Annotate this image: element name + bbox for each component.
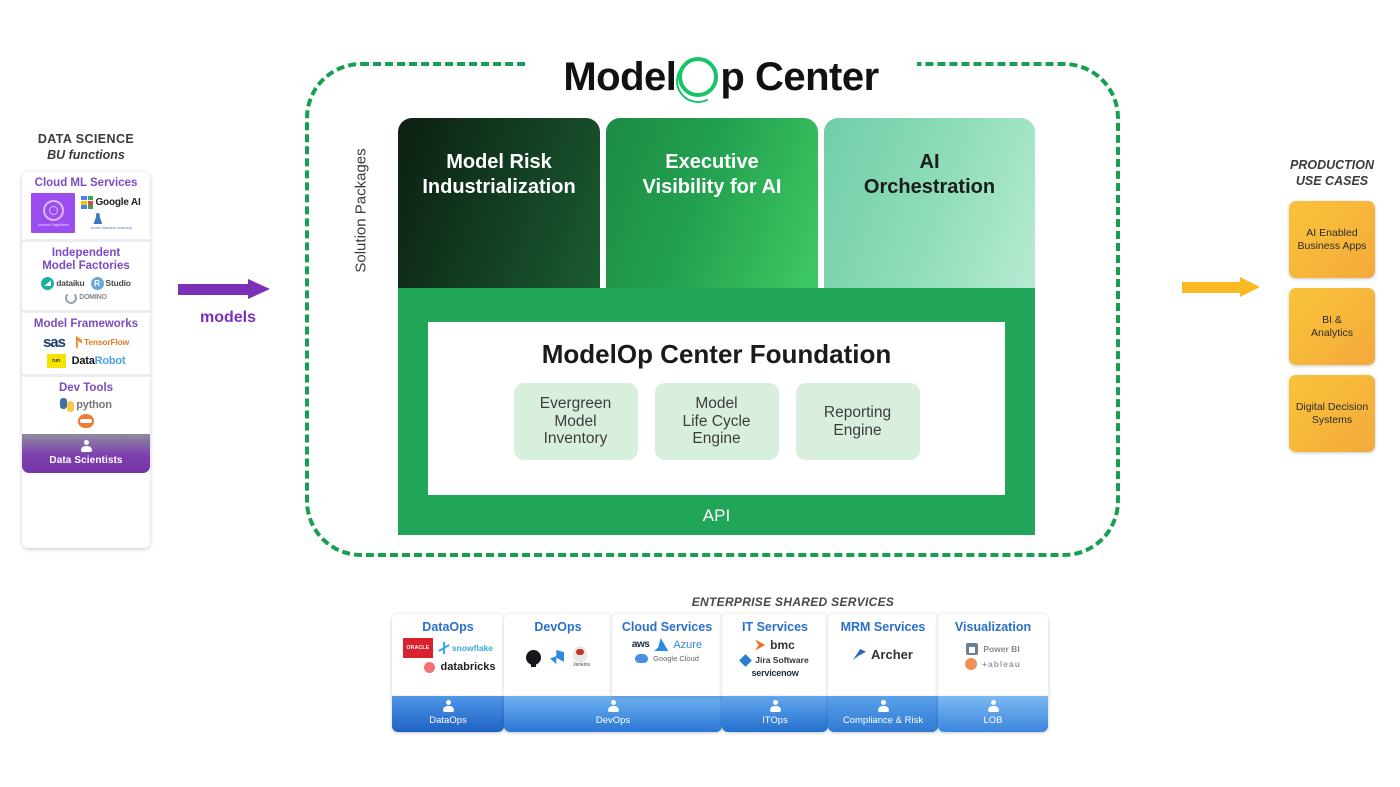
aws-icon: aws (632, 639, 649, 650)
ess-top-panel: IT Services bmc Jira Software servicenow (722, 614, 828, 696)
tableau-icon (965, 658, 977, 670)
dataiku-icon: dataiku (41, 277, 84, 290)
solution-package-executive-visibility-for-ai[interactable]: Executive Visibility for AI (606, 118, 818, 290)
capability-evergreen-model-inventory[interactable]: Evergreen Model Inventory (514, 383, 638, 460)
solution-packages-text: Solution Packages (353, 148, 370, 272)
power-bi-icon (966, 643, 978, 655)
domino-label: DOMINO (79, 294, 107, 301)
person-icon (80, 440, 93, 453)
api-layer-label: API (398, 506, 1035, 526)
azure-ml-label: Azure Machine Learning (90, 226, 131, 230)
use-case-line1: BI & (1311, 314, 1353, 327)
rstudio-icon: R Studio (91, 277, 131, 290)
domino-icon: DOMINO (65, 292, 107, 304)
ess-top-panel: DevOps Jenkins (504, 614, 612, 696)
card-title: Independent Model Factories (26, 247, 146, 273)
jenkins-icon (573, 646, 587, 662)
ess-persona-label: ITOps (762, 715, 788, 726)
package-line1: Model Risk (422, 150, 575, 175)
modelop-o-ring-icon (678, 57, 718, 97)
datarobot-label-a: Data (72, 355, 95, 367)
tableau-label: +ableau (982, 659, 1021, 669)
card-title-line2: Model Factories (26, 260, 146, 273)
oracle-icon: ORACLE (403, 638, 433, 658)
foundation-capabilities: Evergreen Model Inventory Model Life Cyc… (428, 383, 1005, 460)
production-use-cases-column: PRODUCTION USE CASES AI Enabled Business… (1268, 158, 1396, 462)
foundation-panel: ModelOp Center Foundation Evergreen Mode… (428, 322, 1005, 495)
capability-line2: Life Cycle (682, 413, 750, 431)
package-line2: Orchestration (864, 175, 995, 200)
production-use-cases-heading: PRODUCTION USE CASES (1268, 158, 1396, 189)
google-ai-label: Google AI (95, 197, 140, 208)
use-case-line2: Systems (1296, 414, 1368, 427)
foundation-title: ModelOp Center Foundation (428, 339, 1005, 370)
production-heading-line1: PRODUCTION (1268, 158, 1396, 174)
ess-top-panel: Cloud Services aws Azure Google Cloud (612, 614, 722, 696)
bmc-label: bmc (770, 638, 795, 652)
azure-devops-icon (550, 650, 564, 664)
snowflake-label: snowflake (452, 643, 493, 653)
ess-persona-label: Compliance & Risk (843, 715, 923, 726)
sagemaker-label: Amazon SageMaker (38, 223, 69, 227)
ess-top-panel: Visualization Power BI +ableau (938, 614, 1048, 696)
databricks-label: databricks (440, 661, 495, 673)
use-case-line1: AI Enabled (1298, 227, 1367, 240)
use-case-line2: Business Apps (1298, 240, 1367, 253)
production-flow-arrow (1182, 277, 1268, 297)
persona-data-scientists: Data Scientists (22, 434, 150, 473)
modelop-center-foundation-slab: ModelOp Center Foundation Evergreen Mode… (398, 288, 1035, 535)
persona-label: Data Scientists (26, 455, 146, 466)
use-case-bi-analytics[interactable]: BI & Analytics (1289, 288, 1375, 365)
arrow-shape (1182, 277, 1268, 297)
ess-column-name: MRM Services (833, 620, 933, 634)
tensorflow-icon: TensorFlow (71, 336, 129, 349)
ess-column-cloud-services[interactable]: Cloud Services aws Azure Google Cloud (612, 614, 722, 696)
github-icon (526, 650, 541, 665)
archer-label: Archer (871, 647, 913, 662)
card-title: Dev Tools (26, 382, 146, 395)
jupyter-icon (78, 414, 94, 428)
modelop-center-logo: Model p Center (525, 48, 917, 106)
datarobot-icon: Data Robot (72, 355, 126, 367)
ess-persona-label: LOB (983, 715, 1002, 726)
azure-icon (654, 638, 668, 651)
models-arrow-label: models (178, 309, 278, 327)
card-title-line1: Independent (26, 247, 146, 260)
data-science-heading-line1: DATA SCIENCE (22, 132, 150, 148)
data-science-heading-line2: BU functions (22, 148, 150, 164)
card-model-frameworks[interactable]: Model Frameworks sas TensorFlow run Data… (22, 313, 150, 377)
google-ai-icon: Google AI (81, 196, 140, 209)
enterprise-shared-services-title: ENTERPRISE SHARED SERVICES (0, 595, 1400, 609)
solution-packages-axis-label: Solution Packages (349, 120, 373, 300)
datarobot-label-b: Robot (95, 355, 126, 367)
sas-icon: sas (43, 334, 65, 351)
azure-ml-icon: Azure Machine Learning (90, 212, 131, 230)
datarobot-mark-icon: run (47, 354, 66, 368)
ess-persona-compliance-risk: Compliance & Risk (828, 696, 938, 732)
use-case-line1: Digital Decision (1296, 401, 1368, 414)
ess-column-devops[interactable]: DevOps Jenkins DevOps (504, 614, 612, 732)
person-icon (607, 700, 620, 713)
ess-column-name: DataOps (397, 620, 499, 634)
archer-icon (853, 649, 866, 660)
person-icon (442, 700, 455, 713)
capability-model-life-cycle-engine[interactable]: Model Life Cycle Engine (655, 383, 779, 460)
ess-persona-lob: LOB (938, 696, 1048, 732)
ess-top-panel: MRM Services Archer (828, 614, 938, 696)
power-bi-label: Power BI (983, 644, 1019, 654)
ess-column-name: Visualization (943, 620, 1043, 634)
servicenow-label: servicenow (751, 668, 798, 678)
card-dev-tools[interactable]: Dev Tools python (22, 377, 150, 434)
capability-reporting-engine[interactable]: Reporting Engine (796, 383, 920, 460)
azure-label: Azure (673, 639, 702, 651)
use-case-line2: Analytics (1311, 327, 1353, 340)
capability-line3: Inventory (540, 430, 612, 448)
jenkins-label: Jenkins (573, 662, 590, 668)
ess-title-text: ENTERPRISE SHARED SERVICES (692, 595, 895, 609)
snowflake-icon: snowflake (438, 642, 493, 654)
diagram-canvas: DATA SCIENCE BU functions Cloud ML Servi… (0, 0, 1400, 787)
ess-column-dataops[interactable]: DataOps ORACLE snowflake databricks (392, 614, 504, 732)
card-title: Model Frameworks (26, 318, 146, 331)
capability-line1: Evergreen (540, 395, 612, 413)
ess-column-mrm-services[interactable]: MRM Services Archer Compliance & Risk (828, 614, 938, 732)
person-icon (987, 700, 1000, 713)
card-independent-model-factories[interactable]: Independent Model Factories dataiku R St… (22, 242, 150, 312)
amazon-sagemaker-icon: Amazon SageMaker (31, 193, 75, 233)
databricks-icon (424, 662, 435, 673)
python-label: python (76, 399, 111, 411)
jira-label: Jira Software (755, 655, 808, 665)
capability-line1: Reporting (824, 404, 891, 422)
ess-column-name: IT Services (727, 620, 823, 634)
data-science-stack: Cloud ML Services Amazon SageMaker Googl… (22, 172, 150, 548)
arrow-shape (178, 279, 278, 299)
capability-line3: Engine (682, 430, 750, 448)
solution-package-model-risk-industrialization[interactable]: Model Risk Industrialization (398, 118, 600, 290)
ess-column-it-services[interactable]: IT Services bmc Jira Software servicenow (722, 614, 828, 732)
package-line2: Industrialization (422, 175, 575, 200)
package-line2: Visibility for AI (643, 175, 782, 200)
ess-persona-itops: ITOps (722, 696, 828, 732)
models-flow-arrow: models (178, 279, 278, 327)
ess-column-name: Cloud Services (617, 620, 717, 634)
bmc-icon (755, 640, 765, 651)
capability-line1: Model (682, 395, 750, 413)
person-icon (877, 700, 890, 713)
card-title: Cloud ML Services (26, 177, 146, 190)
ess-column-name: DevOps (509, 620, 607, 634)
person-icon (769, 700, 782, 713)
production-heading-line2: USE CASES (1268, 174, 1396, 190)
use-case-ai-enabled-business-apps[interactable]: AI Enabled Business Apps (1289, 201, 1375, 278)
dataiku-label: dataiku (56, 278, 84, 288)
tensorflow-label: TensorFlow (84, 337, 129, 347)
jira-icon (739, 654, 752, 667)
google-cloud-label: Google Cloud (653, 654, 699, 663)
capability-line2: Engine (824, 422, 891, 440)
python-icon: python (60, 398, 111, 412)
brand-prefix: Model (563, 55, 676, 100)
solution-package-ai-orchestration[interactable]: AI Orchestration (824, 118, 1035, 290)
package-line1: AI (864, 150, 995, 175)
card-cloud-ml-services[interactable]: Cloud ML Services Amazon SageMaker Googl… (22, 172, 150, 242)
enterprise-shared-services-row: DataOps ORACLE snowflake databricks (392, 614, 1048, 734)
ess-persona-dataops: DataOps (392, 696, 504, 732)
ess-column-visualization[interactable]: Visualization Power BI +ableau LOB (938, 614, 1048, 732)
ess-persona-label: DevOps (596, 715, 630, 726)
google-cloud-icon (635, 654, 648, 663)
data-science-heading: DATA SCIENCE BU functions (22, 132, 150, 163)
rstudio-label: Studio (106, 278, 131, 288)
use-case-digital-decision-systems[interactable]: Digital Decision Systems (1289, 375, 1375, 452)
capability-line2: Model (540, 413, 612, 431)
ess-top-panel: DataOps ORACLE snowflake databricks (392, 614, 504, 696)
brand-suffix: p Center (720, 55, 878, 100)
package-line1: Executive (643, 150, 782, 175)
ess-persona-devops: DevOps (504, 696, 722, 732)
sas-label: sas (43, 334, 65, 351)
ess-persona-label: DataOps (429, 715, 467, 726)
